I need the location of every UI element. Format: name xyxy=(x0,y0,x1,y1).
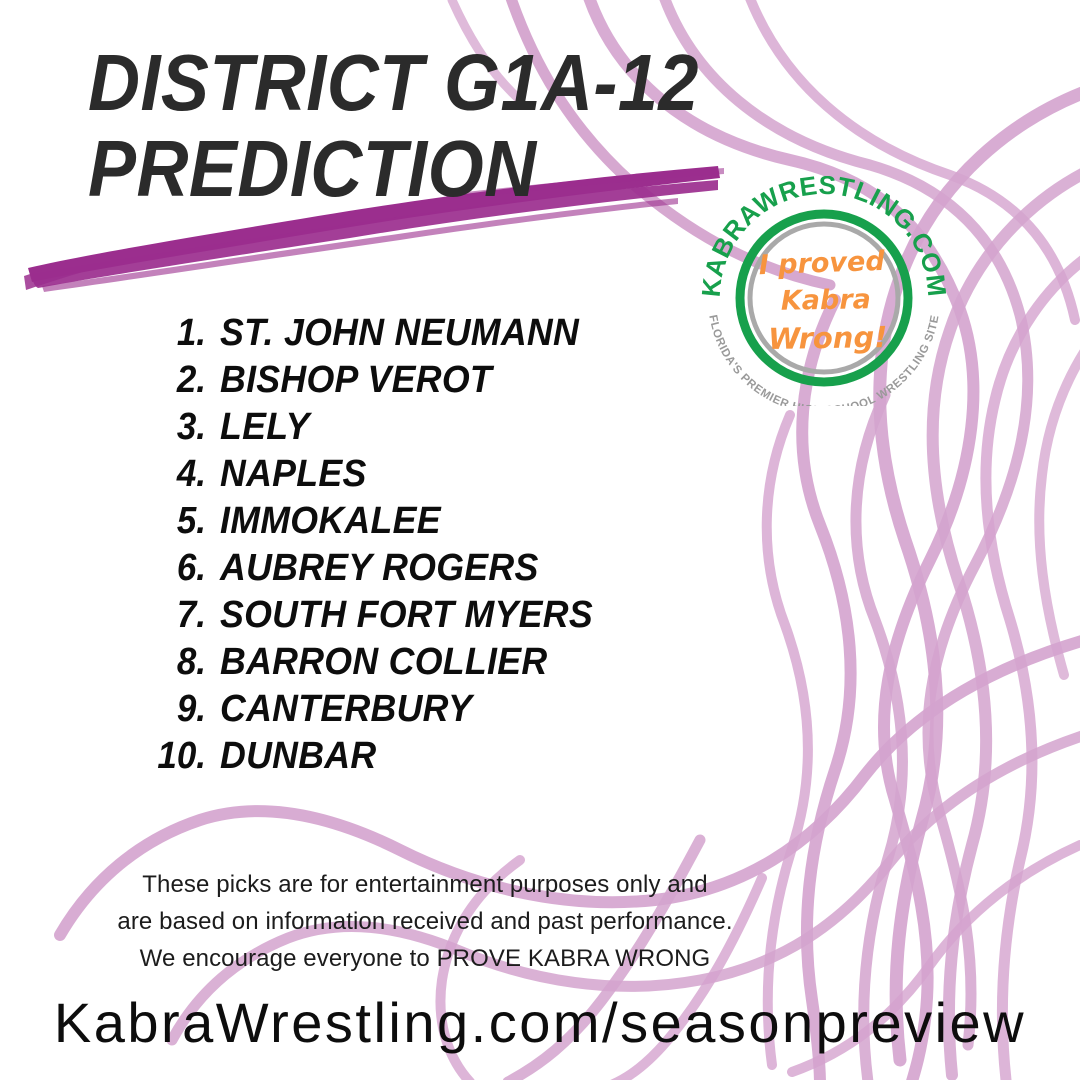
title-line-2: PREDICTION xyxy=(88,130,736,208)
rank-team-name: CANTERBURY xyxy=(220,688,472,731)
prediction-ranking-list: 1. ST. JOHN NEUMANN 2. BISHOP VEROT 3. L… xyxy=(150,312,770,782)
list-item: 6. AUBREY ROGERS xyxy=(150,547,770,594)
badge-center-line-1: I proved xyxy=(758,246,886,281)
disclaimer-line-3: We encourage everyone to PROVE KABRA WRO… xyxy=(0,940,850,977)
list-item: 3. LELY xyxy=(150,406,770,453)
disclaimer-text: These picks are for entertainment purpos… xyxy=(0,866,850,977)
rank-number: 8. xyxy=(154,641,206,684)
list-item: 1. ST. JOHN NEUMANN xyxy=(150,312,770,359)
rank-team-name: IMMOKALEE xyxy=(220,500,441,543)
title-line-1: DISTRICT G1A-12 xyxy=(88,44,736,122)
badge-center-line-3: Wrong! xyxy=(768,320,888,356)
rank-number: 4. xyxy=(154,453,206,496)
disclaimer-line-1: These picks are for entertainment purpos… xyxy=(0,866,850,903)
rank-team-name: SOUTH FORT MYERS xyxy=(220,594,593,637)
disclaimer-line-2: are based on information received and pa… xyxy=(0,903,850,940)
poster-canvas: DISTRICT G1A-12 PREDICTION KABRAWRESTLIN… xyxy=(0,0,1080,1080)
rank-team-name: BARRON COLLIER xyxy=(220,641,547,684)
rank-team-name: NAPLES xyxy=(220,453,367,496)
rank-team-name: BISHOP VEROT xyxy=(220,359,492,402)
rank-number: 2. xyxy=(154,359,206,402)
rank-number: 3. xyxy=(154,406,206,449)
footer-url[interactable]: KabraWrestling.com/seasonpreview xyxy=(0,990,1080,1055)
rank-number: 5. xyxy=(154,500,206,543)
rank-number: 6. xyxy=(154,547,206,590)
list-item: 7. SOUTH FORT MYERS xyxy=(150,594,770,641)
rank-team-name: AUBREY ROGERS xyxy=(220,547,539,590)
list-item: 9. CANTERBURY xyxy=(150,688,770,735)
rank-number: 1. xyxy=(154,312,206,355)
rank-team-name: LELY xyxy=(220,406,310,449)
rank-team-name: ST. JOHN NEUMANN xyxy=(220,312,579,355)
list-item: 8. BARRON COLLIER xyxy=(150,641,770,688)
rank-number: 10. xyxy=(154,735,206,778)
rank-number: 7. xyxy=(154,594,206,637)
list-item: 2. BISHOP VEROT xyxy=(150,359,770,406)
badge-top-arc-text: KABRAWRESTLING.COM xyxy=(698,176,950,298)
list-item: 4. NAPLES xyxy=(150,453,770,500)
list-item: 10. DUNBAR xyxy=(150,735,770,782)
list-item: 5. IMMOKALEE xyxy=(150,500,770,547)
rank-number: 9. xyxy=(154,688,206,731)
badge-center-line-2: Kabra xyxy=(781,284,872,317)
badge-center-text: I proved Kabra Wrong! xyxy=(758,246,887,356)
rank-team-name: DUNBAR xyxy=(220,735,376,778)
